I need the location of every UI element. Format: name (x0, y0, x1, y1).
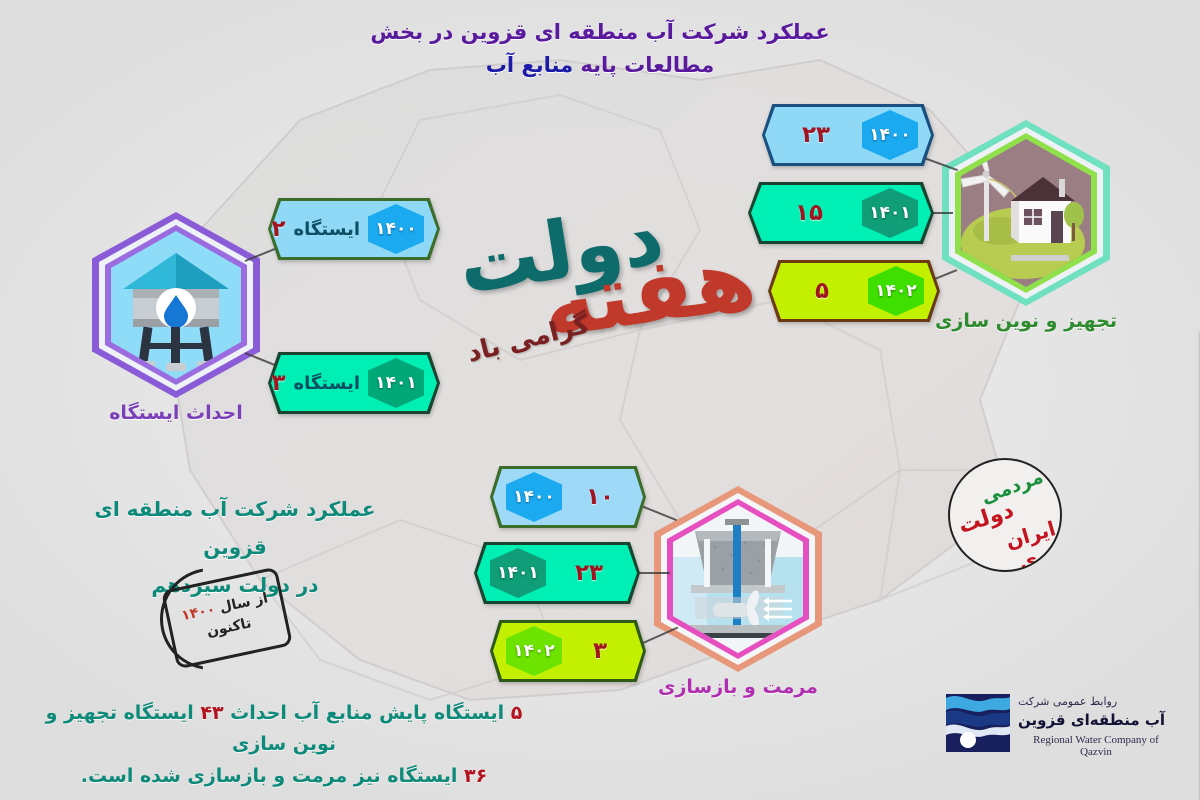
cluster-icon-equipping-modernization[interactable]: تجهیز و نوین سازی (942, 120, 1110, 306)
summary-line2: ۳۶ ایستگاه نیز مرمت و بازسازی شده است. (34, 761, 534, 792)
data-pill-station-1400[interactable]: ۱۴۰۰ ایستگاه ۲ (268, 198, 440, 260)
company-logo-text: روابط عمومی شرکت آب منطقه‌ای قزوین Regio… (1018, 692, 1174, 758)
summary-line1: ۵ ایستگاه پایش منابع آب احداث ۴۳ ایستگاه… (34, 698, 534, 761)
summary-num1: ۵ (511, 702, 523, 724)
pill-unit: ایستگاه (294, 219, 360, 240)
page-title-line2: مطالعات پایه منابع آب (0, 49, 1200, 82)
mid-description-line1: عملکرد شرکت آب منطقه ای قزوین (70, 490, 400, 566)
cluster-label-station-construction: احداث ایستگاه (46, 402, 306, 424)
year-badge: ۱۴۰۰ (862, 110, 918, 160)
data-pill-equipping-1402[interactable]: ۱۴۰۲ ۵ (768, 260, 940, 322)
calligraphy-word-gerami-bad: گرامی باد (464, 309, 592, 368)
data-pill-repair-1400[interactable]: ۱۴۰۰ ۱۰ (490, 466, 646, 528)
pill-unit: ایستگاه (294, 373, 360, 394)
summary-text3: ایستگاه نیز مرمت و بازسازی شده است. (81, 765, 464, 787)
data-pill-repair-1402[interactable]: ۱۴۰۲ ۳ (490, 620, 646, 682)
logo-line-public-relations: روابط عمومی شرکت (1018, 694, 1174, 709)
data-pill-equipping-1401[interactable]: ۱۴۰۱ ۱۵ (748, 182, 934, 244)
year-badge: ۱۴۰۲ (868, 266, 924, 316)
emblem-word-mardomi: مردمی (978, 466, 1046, 509)
pill-value: ۱۰ (570, 484, 630, 510)
infographic-canvas: عملکرد شرکت آب منطقه ای قزوین در بخش مطا… (0, 0, 1200, 800)
data-pill-station-1401[interactable]: ۱۴۰۱ ایستگاه ۳ (268, 352, 440, 414)
pill-value: ۵ (784, 278, 860, 304)
page-title-line2-a: مطالعات پایه (573, 53, 714, 77)
pill-value: ۲۳ (554, 560, 624, 586)
summary-num2: ۴۳ (200, 702, 223, 724)
summary-num3: ۳۶ (464, 765, 487, 787)
pill-value: ۲ (272, 216, 286, 242)
page-title: عملکرد شرکت آب منطقه ای قزوین در بخش مطا… (0, 16, 1200, 81)
cluster-label-repair-rehabilitation: مرمت و بازسازی (608, 676, 868, 698)
pill-value: ۳ (570, 638, 630, 664)
calligraphy-government-week: دولت هفته گرامی باد (452, 196, 752, 386)
page-title-line1: عملکرد شرکت آب منطقه ای قزوین در بخش (0, 16, 1200, 49)
page-title-line2-b: منابع آب (486, 53, 573, 77)
cluster-icon-repair-rehabilitation[interactable]: مرمت و بازسازی (654, 486, 822, 672)
data-pill-repair-1401[interactable]: ۱۴۰۱ ۲۳ (474, 542, 640, 604)
government-emblem: مردمی دولت ایران قوی (948, 458, 1062, 572)
summary-text1: ایستگاه پایش منابع آب احداث (224, 702, 511, 724)
year-badge: ۱۴۰۱ (862, 188, 918, 238)
logo-line-company-name: آب منطقه‌ای قزوین (1018, 709, 1174, 732)
data-pill-equipping-1400[interactable]: ۱۴۰۰ ۲۳ (762, 104, 934, 166)
company-logo: روابط عمومی شرکت آب منطقه‌ای قزوین Regio… (946, 692, 1174, 778)
pill-value: ۳ (272, 370, 286, 396)
year-badge: ۱۴۰۰ (368, 204, 424, 254)
cluster-icon-station-construction[interactable]: احداث ایستگاه (92, 212, 260, 398)
year-badge: ۱۴۰۱ (490, 548, 546, 598)
pill-value: ۱۵ (764, 200, 854, 226)
year-badge: ۱۴۰۰ (506, 472, 562, 522)
logo-line-english: Regional Water Company of Qazvin (1018, 734, 1174, 758)
year-badge: ۱۴۰۱ (368, 358, 424, 408)
pill-value: ۲۳ (778, 122, 854, 148)
summary-text: ۵ ایستگاه پایش منابع آب احداث ۴۳ ایستگاه… (34, 698, 534, 792)
water-wave-logo-icon (946, 694, 1010, 752)
stamp-prefix: از سال (213, 590, 269, 617)
year-badge: ۱۴۰۲ (506, 626, 562, 676)
